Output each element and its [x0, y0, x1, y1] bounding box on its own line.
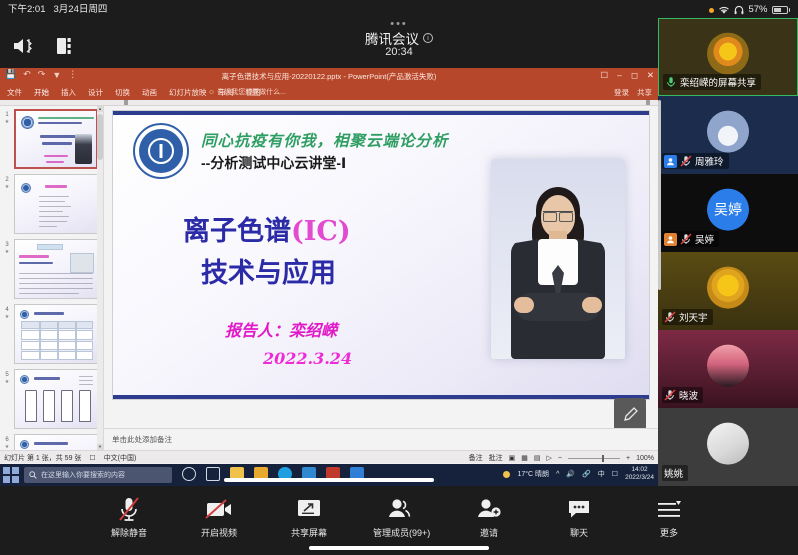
thumbnail-slide-4[interactable]	[14, 304, 98, 364]
lightbulb-icon: ☺	[208, 89, 215, 96]
share-screen-button[interactable]: 共享屏幕	[283, 495, 335, 539]
start-video-button[interactable]: 开启视频	[193, 495, 245, 539]
thumbnail-item[interactable]: 3 ★	[2, 239, 101, 299]
more-button[interactable]: 更多	[643, 495, 695, 539]
participants-icon	[373, 495, 425, 523]
slide-title-ic: (IC)	[291, 216, 351, 247]
animation-star-icon: ★	[2, 119, 12, 126]
mic-muted-icon	[103, 495, 155, 523]
participant-tile-2[interactable]: 吴婷 吴婷	[658, 174, 798, 252]
avatar	[707, 345, 749, 387]
avatar	[707, 267, 749, 309]
slide-thumbnail-pane[interactable]: 1 ★	[0, 106, 104, 450]
taskbar-search-placeholder: 在这里输入你要搜索的内容	[41, 470, 125, 480]
thumbnail-scrollbar[interactable]: ▲ ▼	[97, 106, 103, 450]
slide-presenter: 报告人：栾绍嵘	[225, 317, 337, 341]
start-video-label: 开启视频	[193, 526, 245, 539]
thumbnail-number-label: 6	[5, 437, 8, 443]
clock-date: 2022/3/24	[625, 474, 654, 482]
powerpoint-status-bar: 幻灯片 第 1 张，共 59 张 ☐ 中文(中国) 备注 批注 ▣ ▦ ▤ ▷ …	[0, 450, 658, 463]
thumbnail-number: 6 ★	[2, 434, 12, 450]
more-label: 更多	[643, 526, 695, 539]
participant-name-badge: 刘天宇	[662, 309, 713, 325]
avatar-initials-label: 吴婷	[714, 200, 742, 220]
participant-name-badge: 晓波	[662, 387, 703, 403]
manage-participants-button[interactable]: 管理成员(99+)	[373, 495, 425, 539]
thumbnail-item[interactable]: 4 ★	[2, 304, 101, 364]
tell-me-placeholder: 告诉我您想要做什么...	[217, 89, 286, 96]
close-button[interactable]: ✕	[647, 70, 654, 81]
animation-star-icon: ★	[2, 184, 12, 191]
avatar	[707, 423, 749, 465]
animation-star-icon: ★	[2, 249, 12, 256]
manage-participants-label: 管理成员(99+)	[373, 526, 425, 539]
thumbnail-number: 2 ★	[2, 174, 12, 191]
unmute-label: 解除静音	[103, 526, 155, 539]
tab-home[interactable]: 开始	[34, 87, 49, 98]
participant-name-badge: 吴婷	[662, 231, 719, 247]
status-time: 下午2:01	[8, 0, 46, 20]
participant-name-badge: 栾绍嵘的屏幕共享	[663, 74, 761, 90]
participant-tile-1[interactable]: 周雅玲	[658, 96, 798, 174]
weather-sun-icon	[503, 471, 510, 478]
tab-design[interactable]: 设计	[88, 87, 103, 98]
show-hidden-icons[interactable]: ^	[556, 471, 559, 478]
headphones-icon	[734, 5, 744, 15]
search-icon	[29, 471, 37, 479]
pen-icon	[622, 406, 639, 423]
university-logo-icon	[133, 123, 189, 179]
avatar	[707, 111, 749, 153]
powerpoint-window[interactable]: 💾 ↶ ↷ ▼ ⋮ 离子色谱技术与应用-20220122.pptx - Powe…	[0, 68, 658, 486]
thumbnail-item[interactable]: 2 ★	[2, 174, 101, 234]
user-badge-icon	[664, 155, 677, 168]
mic-muted-icon	[664, 389, 676, 401]
shared-screen-area[interactable]: 💾 ↶ ↷ ▼ ⋮ 离子色谱技术与应用-20220122.pptx - Powe…	[0, 68, 658, 486]
mic-muted-icon	[680, 233, 692, 245]
ribbon-display-options-icon[interactable]: ☐	[600, 70, 608, 81]
share-screen-label: 共享屏幕	[283, 526, 335, 539]
tab-transitions[interactable]: 切换	[115, 87, 130, 98]
document-title: 离子色谱技术与应用-20220122.pptx - PowerPoint(产品激…	[0, 71, 658, 82]
zoom-level-label[interactable]: 100%	[636, 455, 654, 462]
clock-time: 14:02	[625, 466, 654, 474]
cortana-icon[interactable]	[182, 467, 196, 481]
layout-grid-icon[interactable]	[56, 36, 72, 61]
zoom-out-button[interactable]: −	[558, 455, 562, 462]
sign-in-link[interactable]: 登录	[614, 87, 629, 98]
participant-name-badge: 周雅玲	[662, 153, 729, 169]
participant-tile-0[interactable]: 栾绍嵘的屏幕共享	[658, 18, 798, 96]
normal-view-icon[interactable]: ▣	[509, 454, 516, 462]
thumbnail-scroll-thumb[interactable]	[97, 114, 103, 160]
reading-view-icon[interactable]: ▤	[534, 454, 541, 462]
participant-rail-scrollbar[interactable]	[658, 100, 661, 290]
window-controls[interactable]: ☐ – ◻ ✕	[600, 70, 654, 81]
slide-sorter-icon[interactable]: ▦	[521, 454, 528, 462]
chat-label: 聊天	[553, 526, 605, 539]
animation-star-icon: ★	[2, 379, 12, 386]
slideshow-icon[interactable]: ▷	[547, 454, 552, 462]
thumbnail-number: 4 ★	[2, 304, 12, 321]
animation-star-icon: ★	[2, 314, 12, 321]
slide-top-bar	[113, 111, 649, 115]
notes-placeholder: 单击此处添加备注	[112, 434, 172, 445]
more-menu-icon	[643, 495, 695, 523]
thumbnail-slide-6[interactable]	[14, 434, 98, 450]
participant-name: 晓波	[679, 388, 698, 402]
participant-name: 周雅玲	[695, 154, 724, 168]
battery-percent-label: 57%	[748, 0, 767, 20]
slide-bottom-bar	[113, 395, 649, 399]
powerpoint-title-bar: 💾 ↶ ↷ ▼ ⋮ 离子色谱技术与应用-20220122.pptx - Powe…	[0, 68, 658, 85]
powerpoint-body: 1 ★	[0, 106, 658, 450]
task-view-icon[interactable]	[206, 467, 220, 481]
user-badge-icon	[664, 233, 677, 246]
slide-header-subtitle: --分析测试中心云讲堂-Ⅰ	[201, 153, 346, 173]
tab-animations[interactable]: 动画	[142, 87, 157, 98]
language-label: 中文(中国)	[104, 453, 137, 463]
chat-button[interactable]: 聊天	[553, 495, 605, 539]
thumbnail-number: 1 ★	[2, 109, 12, 126]
slide-date: 2022.3.24	[263, 349, 352, 368]
presenter-photo	[491, 159, 625, 359]
meeting-title-label: 腾讯会议	[365, 28, 419, 48]
participant-name: 吴婷	[695, 232, 714, 246]
zoom-slider[interactable]	[568, 458, 620, 459]
participant-name: 刘天宇	[679, 310, 708, 324]
weather-label[interactable]: 17°C 晴朗	[517, 469, 549, 479]
current-slide[interactable]: 同心抗疫有你我，相聚云端论分析 --分析测试中心云讲堂-Ⅰ 离子色谱(IC) 技…	[112, 110, 650, 400]
thumbnail-number: 5 ★	[2, 369, 12, 386]
participant-tile-3[interactable]: 刘天宇	[658, 252, 798, 330]
restore-button[interactable]: ◻	[631, 70, 638, 81]
wifi-icon	[718, 5, 730, 15]
thumbnail-slide-3[interactable]	[14, 239, 98, 299]
taskbar-tray[interactable]: 17°C 晴朗 ^ 🔊 🔗 中 ☐ 14:02 2022/3/24	[503, 466, 654, 482]
notes-toggle-button[interactable]: 备注	[469, 453, 483, 463]
ribbon-tabs[interactable]: 文件 开始 插入 设计 切换 动画 幻灯片放映 审阅 视图 ☺ 告诉我您想要做什…	[0, 85, 658, 100]
language-icon: ☐	[89, 454, 95, 462]
zoom-in-button[interactable]: +	[626, 455, 630, 462]
tab-file[interactable]: 文件	[7, 87, 22, 98]
thumb-logo-icon	[21, 116, 34, 129]
battery-icon	[772, 6, 791, 14]
slide-count-label: 幻灯片 第 1 张，共 59 张	[4, 453, 81, 463]
tell-me-search[interactable]: ☺ 告诉我您想要做什么...	[208, 87, 286, 97]
taskbar-search-input[interactable]: 在这里输入你要搜索的内容	[24, 467, 172, 483]
ime-chinese-icon[interactable]: 中	[598, 469, 605, 479]
thumbnail-number-label: 5	[5, 372, 8, 378]
share-screen-icon	[283, 495, 335, 523]
speaker-bluetooth-icon[interactable]	[12, 36, 34, 61]
unmute-button[interactable]: 解除静音	[103, 495, 155, 539]
participant-name: 栾绍嵘的屏幕共享	[680, 75, 756, 89]
invite-label: 邀请	[463, 526, 515, 539]
slide-title-cn: 离子色谱	[183, 216, 291, 247]
thumbnail-slide-1[interactable]	[14, 109, 98, 169]
slide-title-second: 技术与应用	[201, 251, 336, 290]
meeting-screen: 下午2:01 3月24日周四 57%	[0, 0, 798, 555]
network-icon[interactable]: 🔗	[582, 470, 591, 478]
avatar	[707, 33, 749, 75]
minimize-button[interactable]: –	[617, 70, 622, 81]
comments-toggle-button[interactable]: 批注	[489, 453, 503, 463]
thumbnail-item[interactable]: 1 ★	[2, 109, 101, 169]
avatar-initials: 吴婷	[707, 189, 749, 231]
windows-taskbar[interactable]: 在这里输入你要搜索的内容 17°C 晴朗 ^ 🔊 🔗 中 ☐	[0, 464, 658, 486]
video-off-icon	[193, 495, 245, 523]
share-button[interactable]: 共享	[637, 87, 652, 98]
thumbnail-number-label: 3	[5, 242, 8, 248]
thumbnail-item[interactable]: 5 ★	[2, 369, 101, 429]
slide-canvas-area[interactable]: 同心抗疫有你我，相聚云端论分析 --分析测试中心云讲堂-Ⅰ 离子色谱(IC) 技…	[104, 106, 658, 450]
recording-dot-icon	[709, 8, 714, 13]
volume-icon[interactable]: 🔊	[566, 470, 575, 478]
mic-muted-icon	[680, 155, 692, 167]
participant-name-badge: 姚姚	[662, 465, 688, 481]
thumbnail-number-label: 1	[5, 112, 8, 118]
meeting-elapsed-time: 20:34	[385, 46, 413, 58]
status-date: 3月24日周四	[54, 0, 108, 20]
thumbnail-item[interactable]: 6 ★	[2, 434, 101, 450]
annotation-pen-button[interactable]	[614, 398, 646, 430]
meeting-bottom-toolbar: 解除静音 开启视频	[0, 486, 798, 555]
participant-name: 姚姚	[664, 466, 683, 480]
ios-status-bar: 下午2:01 3月24日周四 57%	[0, 0, 798, 20]
scroll-up-arrow-icon[interactable]: ▲	[97, 106, 103, 112]
thumbnail-number: 3 ★	[2, 239, 12, 256]
invite-button[interactable]: 邀请	[463, 495, 515, 539]
notes-pane[interactable]: 单击此处添加备注	[104, 428, 658, 450]
participant-tile-4[interactable]: 晓波	[658, 330, 798, 408]
windows-start-button[interactable]	[3, 467, 19, 483]
mic-on-icon	[665, 76, 677, 88]
tab-insert[interactable]: 插入	[61, 87, 76, 98]
thumbnail-slide-5[interactable]	[14, 369, 98, 429]
thumbnail-number-label: 2	[5, 177, 8, 183]
meeting-title: 腾讯会议 i	[365, 28, 433, 48]
participant-rail[interactable]: 栾绍嵘的屏幕共享 周雅玲 吴婷	[658, 18, 798, 486]
taskbar-clock[interactable]: 14:02 2022/3/24	[625, 466, 654, 482]
tab-slideshow[interactable]: 幻灯片放映	[169, 87, 207, 98]
thumbnail-slide-2[interactable]	[14, 174, 98, 234]
slide-header-slogan: 同心抗疫有你我，相聚云端论分析	[201, 129, 449, 151]
ruler-mark	[124, 100, 128, 105]
home-indicator	[309, 546, 489, 550]
info-icon[interactable]: i	[423, 33, 433, 43]
action-center-icon[interactable]: ☐	[612, 470, 618, 478]
slide-title-main: 离子色谱(IC)	[183, 209, 351, 248]
ruler-mark	[646, 100, 650, 105]
chat-bubble-icon	[553, 495, 605, 523]
thumbnail-number-label: 4	[5, 307, 8, 313]
invite-person-icon	[463, 495, 515, 523]
participant-tile-5[interactable]: 姚姚	[658, 408, 798, 486]
home-indicator-overlay	[224, 478, 434, 482]
mic-muted-icon	[664, 311, 676, 323]
